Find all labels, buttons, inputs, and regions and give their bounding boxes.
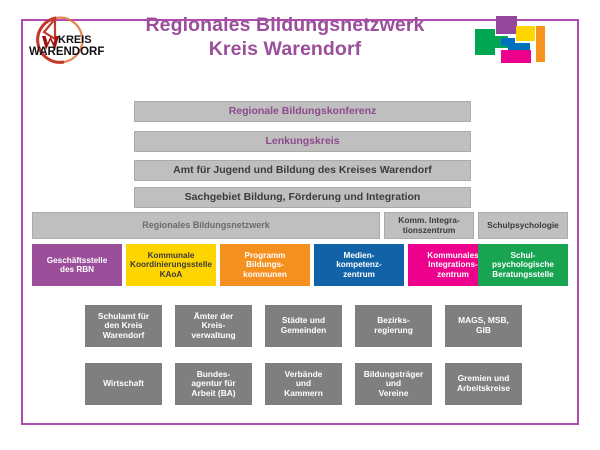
partner-box-label: Bildungsträger und Vereine [364,370,424,399]
partner-box-gremien-und-arbeitskreise[interactable]: Gremien und Arbeitskreise [445,363,522,405]
bildungsnetzwerk-logo [470,12,550,70]
partner-box-staedte-und-gemeinden[interactable]: Städte und Gemeinden [265,305,342,347]
color-box-programm-bildungskommunen[interactable]: Programm Bildungs- kommunen [220,244,310,286]
partner-box-aemter-kreisverwaltung[interactable]: Ämter der Kreis- verwaltung [175,305,252,347]
partner-box-label: Städte und Gemeinden [281,316,327,335]
partner-box-label: Wirtschaft [103,379,144,389]
color-box-label: Kommunales Integrations- zentrum [427,251,478,279]
page-title-line1: Regionales Bildungsnetzwerk [145,14,424,36]
color-box-label: Medien- kompetenz- zentrum [336,251,382,279]
color-box-medienkompetenzzentrum[interactable]: Medien- kompetenz- zentrum [314,244,404,286]
bar-sachgebiet-bildung[interactable]: Sachgebiet Bildung, Förderung und Integr… [134,187,471,208]
color-box-schulpsychologische-beratungsstelle[interactable]: Schul- psychologische Beratungsstelle [478,244,568,286]
partner-box-label: Verbände und Kammern [284,370,323,399]
color-box-label: Programm Bildungs- kommunen [243,251,287,279]
partner-box-label: Bezirks- regierung [374,316,413,335]
color-box-label: Kommunale Koordinierungsstelle KAoA [130,251,212,279]
bar-label: Amt für Jugend und Bildung des Kreises W… [173,165,432,177]
segment-label: Regionales Bildungsnetzwerk [142,220,270,230]
partner-box-label: Ämter der Kreis- verwaltung [191,312,235,341]
bar-amt-fuer-jugend-und-bildung[interactable]: Amt für Jugend und Bildung des Kreises W… [134,160,471,181]
partner-box-bildungstraeger-und-vereine[interactable]: Bildungsträger und Vereine [355,363,432,405]
page-title: Regionales Bildungsnetzwerk Kreis Warend… [120,14,450,62]
segment-komm-integrationszentrum[interactable]: Komm. Integra- tionszentrum [384,212,474,239]
kreis-logo-line1: KREIS [58,34,92,46]
partner-box-wirtschaft[interactable]: Wirtschaft [85,363,162,405]
kreis-warendorf-logo: KREIS WARENDORF [12,10,122,72]
partner-box-bundesagentur-fuer-arbeit[interactable]: Bundes- agentur für Arbeit (BA) [175,363,252,405]
segment-label: Komm. Integra- tionszentrum [398,216,459,235]
bar-label: Sachgebiet Bildung, Förderung und Integr… [185,192,421,204]
bar-label: Regionale Bildungskonferenz [229,106,377,118]
color-box-geschaeftsstelle-rbn[interactable]: Geschäftsstelle des RBN [32,244,122,286]
color-box-label: Schul- psychologische Beratungsstelle [492,251,554,279]
segment-schulpsychologie[interactable]: Schulpsychologie [478,212,568,239]
partner-box-mags-msb-gib[interactable]: MAGS, MSB, GIB [445,305,522,347]
partner-box-bezirksregierung[interactable]: Bezirks- regierung [355,305,432,347]
partner-box-verbaende-und-kammern[interactable]: Verbände und Kammern [265,363,342,405]
segment-regionales-bildungsnetzwerk[interactable]: Regionales Bildungsnetzwerk [32,212,380,239]
color-box-kommunale-koordinierungsstelle-kaoa[interactable]: Kommunale Koordinierungsstelle KAoA [126,244,216,286]
partner-box-label: Bundes- agentur für Arbeit (BA) [191,370,235,399]
partner-box-label: MAGS, MSB, GIB [458,316,509,335]
bar-regionale-bildungskonferenz[interactable]: Regionale Bildungskonferenz [134,101,471,122]
segment-label: Schulpsychologie [487,221,559,231]
diagram-canvas: KREIS WARENDORF Regionales Bildungsnetzw… [0,0,600,450]
partner-box-label: Gremien und Arbeitskreise [457,374,510,393]
bar-label: Lenkungskreis [265,136,339,148]
partner-box-label: Schulamt für den Kreis Warendorf [98,312,149,341]
kreis-logo-line2: WARENDORF [29,46,104,58]
partner-box-schulamt[interactable]: Schulamt für den Kreis Warendorf [85,305,162,347]
bar-lenkungskreis[interactable]: Lenkungskreis [134,131,471,152]
page-title-line2: Kreis Warendorf [120,38,450,62]
color-box-label: Geschäftsstelle des RBN [47,256,108,275]
